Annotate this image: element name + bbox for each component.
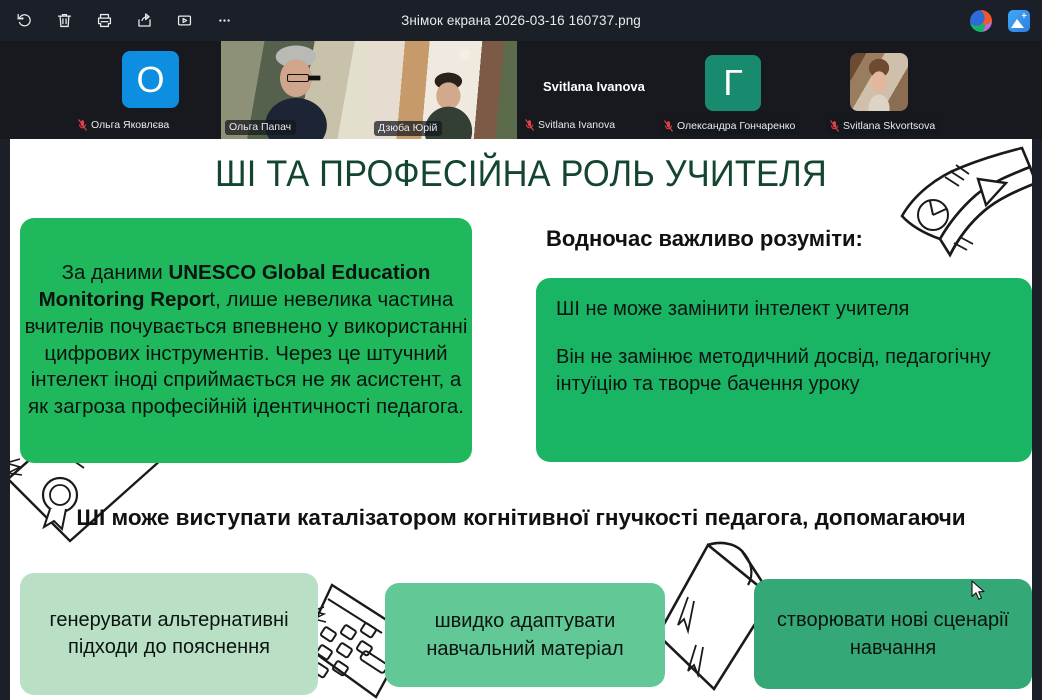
benefit-box-generate-text: генерувати альтернативні підходи до пояс… — [30, 607, 308, 661]
right-section-heading: Водночас важливо розуміти: — [546, 226, 863, 252]
participant-tile[interactable]: Дзюба Юрій — [371, 41, 517, 139]
participant-name: Ольга Папач — [229, 121, 291, 133]
active-speaker-name: Svitlana Ivanova — [543, 79, 645, 94]
share-icon[interactable] — [126, 6, 162, 36]
avatar: Г — [705, 55, 761, 111]
delete-icon[interactable] — [46, 6, 82, 36]
participant-name-chip: Олександра Гончаренко — [660, 119, 800, 134]
benefit-box-scenarios-text: створювати нові сценарії навчання — [762, 606, 1024, 662]
title-bar: Знімок екрана 2026-03-16 160737.png — [0, 0, 1042, 41]
slide-title: ШІ ТА ПРОФЕСІЙНА РОЛЬ УЧИТЕЛЯ — [46, 153, 996, 195]
photos-icon[interactable] — [1008, 10, 1030, 32]
participant-name: Svitlana Skvortsova — [843, 120, 935, 132]
participant-name-chip: Дзюба Юрій — [374, 121, 442, 136]
ai-limits-line-1: ШІ не може замінити інтелект учителя — [556, 296, 1012, 322]
slideshow-icon[interactable] — [166, 6, 202, 36]
mic-muted-icon — [830, 120, 839, 132]
participant-name-chip: Ольга Яковлєва — [74, 118, 174, 133]
ai-limits-line-2: Він не замінює методичний досвід, педаго… — [556, 344, 1012, 397]
participant-name: Ольга Яковлєва — [91, 119, 169, 131]
print-icon[interactable] — [86, 6, 122, 36]
title-bar-tray — [970, 0, 1030, 41]
participant-tile[interactable]: Svitlana Skvortsova — [836, 41, 1026, 139]
participant-name-chip: Svitlana Skvortsova — [826, 119, 940, 134]
participant-tile[interactable]: Ольга Папач — [221, 41, 371, 139]
bottom-section-heading: ШІ може виступати каталізатором когнітив… — [10, 503, 1032, 532]
unesco-statistic-box: За даними UNESCO Global Education Monito… — [20, 218, 472, 463]
benefit-box-adapt: швидко адаптувати навчальний матеріал — [385, 583, 665, 687]
benefit-box-adapt-text: швидко адаптувати навчальний матеріал — [393, 607, 657, 663]
photo-viewer-window: Знімок екрана 2026-03-16 160737.png О Ол… — [0, 0, 1042, 700]
mic-muted-icon — [78, 119, 87, 131]
benefit-box-scenarios: створювати нові сценарії навчання — [754, 579, 1032, 689]
more-icon[interactable] — [206, 6, 242, 36]
participant-tile[interactable]: Svitlana Ivanova Svitlana Ivanova — [517, 41, 665, 139]
presentation-slide: ШІ ТА ПРОФЕСІЙНА РОЛЬ УЧИТЕЛЯ За даними … — [10, 139, 1032, 700]
participant-name: Олександра Гончаренко — [677, 120, 795, 132]
video-participant-strip: О Ольга Яковлєва Ольга Папач Дзюба Юрій — [0, 41, 1042, 139]
participant-name-chip: Ольга Папач — [225, 120, 296, 135]
avatar — [850, 53, 908, 111]
copilot-icon[interactable] — [970, 10, 992, 32]
participant-tile[interactable]: О Ольга Яковлєва — [60, 41, 240, 139]
participant-name: Дзюба Юрій — [378, 122, 437, 134]
mic-muted-icon — [525, 119, 534, 131]
avatar: О — [122, 51, 179, 108]
participant-name: Svitlana Ivanova — [538, 119, 615, 131]
benefit-box-generate: генерувати альтернативні підходи до пояс… — [20, 573, 318, 695]
title-bar-toolbar — [0, 6, 242, 36]
participant-tile[interactable]: Г Олександра Гончаренко — [660, 41, 836, 139]
rotate-icon[interactable] — [6, 6, 42, 36]
left-box-text-before: За даними — [62, 261, 169, 284]
mic-muted-icon — [664, 120, 673, 132]
participant-name-chip: Svitlana Ivanova — [521, 118, 620, 133]
ai-limits-box: ШІ не може замінити інтелект учителя Він… — [536, 278, 1032, 462]
